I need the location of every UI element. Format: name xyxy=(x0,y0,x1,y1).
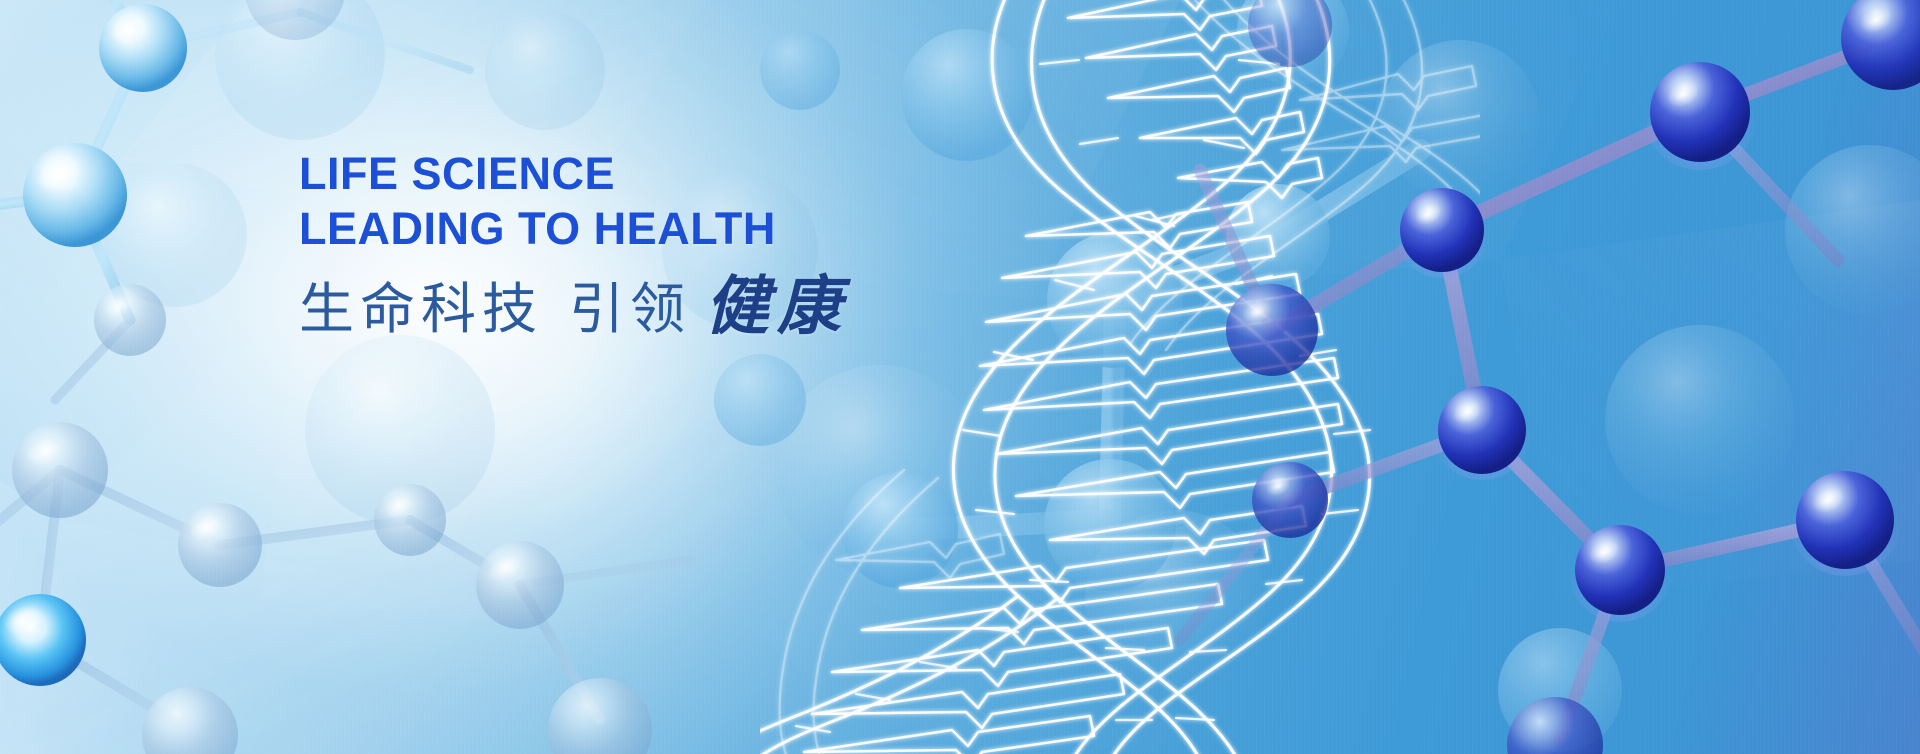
life-science-banner: LIFE SCIENCE LEADING TO HEALTH 生命科技 引领 健… xyxy=(0,0,1920,754)
background-texture xyxy=(0,0,1920,754)
